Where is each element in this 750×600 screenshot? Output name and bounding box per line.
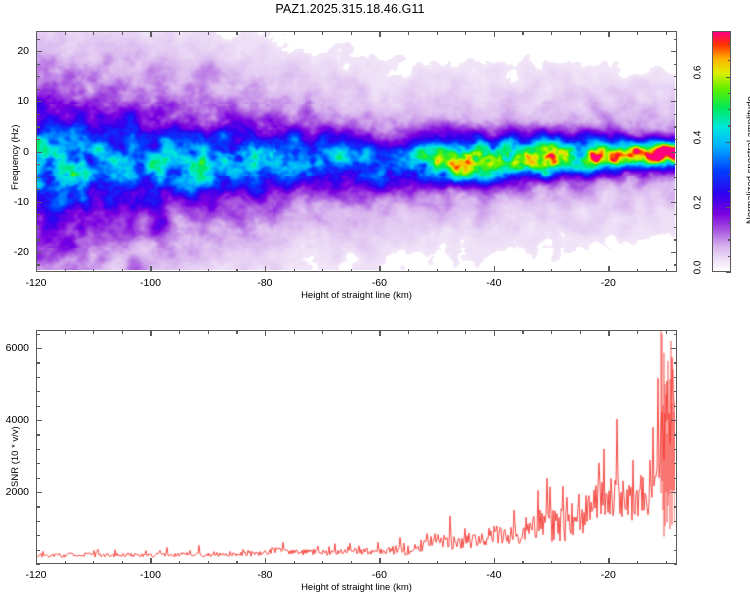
x-tick-bottom: [122, 561, 123, 565]
y-tick-right: [671, 348, 677, 349]
figure-root: PAZ1.2025.315.18.46.G11 -120-100-80-60-4…: [0, 0, 750, 600]
x-tick-label: -120: [25, 277, 46, 289]
x-tick-bottom: [551, 269, 552, 273]
x-tick-label: -100: [140, 277, 161, 289]
x-tick-bottom: [351, 561, 352, 565]
y-tick-label: 4000: [0, 414, 29, 426]
x-tick-top: [522, 31, 523, 35]
x-tick-bottom: [551, 561, 552, 565]
y-tick-left: [36, 463, 40, 464]
x-tick-bottom: [322, 269, 323, 273]
x-tick-bottom: [379, 558, 380, 564]
spectrogram-y-axis-title: Frequency (Hz): [10, 124, 21, 189]
y-tick-label: 6000: [0, 342, 29, 354]
y-tick-right: [674, 114, 678, 115]
x-tick-top: [465, 31, 466, 35]
x-tick-label: -100: [140, 569, 161, 581]
x-tick-top: [666, 330, 667, 334]
y-tick-right: [671, 420, 677, 421]
colorbar-tick: [728, 191, 731, 192]
y-tick-left: [36, 521, 40, 522]
colorbar: [712, 31, 731, 272]
y-tick-left: [36, 492, 42, 493]
colorbar-tick: [728, 60, 731, 61]
x-tick-bottom: [265, 558, 266, 564]
y-tick-right: [674, 177, 678, 178]
y-tick-left: [36, 420, 42, 421]
x-tick-bottom: [465, 269, 466, 273]
colorbar-tick-label: 0.4: [693, 130, 704, 150]
y-tick-right: [674, 64, 678, 65]
x-tick-top: [666, 31, 667, 35]
y-tick-right: [674, 506, 678, 507]
x-tick-top: [608, 330, 609, 336]
colorbar-axis-title: Normalized spectral amplitude: [745, 96, 750, 224]
x-tick-top: [551, 31, 552, 35]
x-tick-bottom: [437, 561, 438, 565]
y-tick-label: -10: [0, 196, 29, 208]
colorbar-tick: [728, 125, 731, 126]
y-tick-right: [674, 391, 678, 392]
colorbar-tick: [726, 142, 731, 143]
x-tick-top: [208, 330, 209, 334]
x-tick-bottom: [93, 269, 94, 273]
y-tick-right: [671, 51, 677, 52]
y-tick-right: [674, 564, 678, 565]
x-tick-label: -20: [601, 569, 616, 581]
y-tick-right: [674, 76, 678, 77]
x-tick-bottom: [322, 561, 323, 565]
y-tick-right: [674, 227, 678, 228]
y-tick-label: 10: [0, 95, 29, 107]
x-tick-bottom: [437, 269, 438, 273]
x-tick-bottom: [65, 561, 66, 565]
y-tick-right: [674, 126, 678, 127]
x-tick-top: [93, 330, 94, 334]
colorbar-tick-label: 0.2: [693, 195, 704, 215]
x-tick-top: [379, 330, 380, 336]
x-tick-bottom: [36, 266, 37, 272]
x-tick-bottom: [666, 561, 667, 565]
x-tick-bottom: [179, 561, 180, 565]
x-tick-bottom: [65, 269, 66, 273]
y-tick-right: [671, 252, 677, 253]
x-tick-top: [294, 31, 295, 35]
x-tick-bottom: [93, 561, 94, 565]
x-tick-bottom: [150, 558, 151, 564]
y-tick-left: [36, 227, 40, 228]
y-tick-right: [674, 362, 678, 363]
y-tick-left: [36, 449, 40, 450]
x-tick-top: [551, 330, 552, 334]
x-tick-top: [236, 31, 237, 35]
x-tick-bottom: [608, 558, 609, 564]
y-tick-left: [36, 377, 40, 378]
y-tick-left: [36, 478, 40, 479]
x-tick-bottom: [236, 269, 237, 273]
x-tick-label: -60: [372, 277, 387, 289]
x-tick-bottom: [637, 269, 638, 273]
x-tick-bottom: [265, 266, 266, 272]
y-tick-left: [36, 334, 40, 335]
x-tick-top: [322, 31, 323, 35]
x-tick-top: [322, 330, 323, 334]
y-tick-left: [36, 239, 40, 240]
snr-x-axis-title: Height of straight line (km): [301, 582, 412, 593]
x-tick-bottom: [208, 561, 209, 565]
y-tick-left: [36, 177, 40, 178]
y-tick-right: [671, 152, 677, 153]
x-tick-top: [437, 330, 438, 334]
x-tick-label: -40: [486, 569, 501, 581]
page-title: PAZ1.2025.315.18.46.G11: [0, 2, 700, 16]
x-tick-bottom: [522, 269, 523, 273]
colorbar-tick: [728, 44, 731, 45]
y-tick-right: [674, 449, 678, 450]
spectrogram-canvas: [37, 32, 675, 270]
x-tick-bottom: [608, 266, 609, 272]
x-tick-top: [637, 330, 638, 334]
spectrogram-x-axis-title: Height of straight line (km): [301, 290, 412, 301]
x-tick-bottom: [494, 266, 495, 272]
x-tick-top: [265, 330, 266, 336]
x-tick-bottom: [294, 269, 295, 273]
y-tick-left: [36, 64, 40, 65]
x-tick-top: [122, 330, 123, 334]
x-tick-top: [265, 31, 266, 37]
y-tick-left: [36, 189, 40, 190]
x-tick-label: -40: [486, 277, 501, 289]
y-tick-right: [671, 202, 677, 203]
x-tick-label: -80: [257, 277, 272, 289]
y-tick-label: 2000: [0, 486, 29, 498]
x-tick-bottom: [150, 266, 151, 272]
x-tick-top: [494, 330, 495, 336]
x-tick-bottom: [351, 269, 352, 273]
y-tick-left: [36, 39, 40, 40]
y-tick-label: 20: [0, 45, 29, 57]
colorbar-tick: [726, 77, 731, 78]
y-tick-right: [674, 164, 678, 165]
x-tick-top: [580, 330, 581, 334]
y-tick-right: [674, 39, 678, 40]
snr-y-axis-title: SNR (10 * v/v): [10, 426, 21, 487]
x-tick-top: [65, 330, 66, 334]
x-tick-top: [122, 31, 123, 35]
y-tick-right: [674, 334, 678, 335]
y-tick-label: -20: [0, 246, 29, 258]
x-tick-bottom: [294, 561, 295, 565]
colorbar-tick-label: 0.0: [693, 261, 704, 281]
x-tick-top: [179, 31, 180, 35]
y-tick-right: [674, 478, 678, 479]
x-tick-top: [408, 31, 409, 35]
y-tick-left: [36, 264, 40, 265]
colorbar-tick: [728, 256, 731, 257]
colorbar-tick: [728, 239, 731, 240]
x-tick-top: [179, 330, 180, 334]
colorbar-gradient: [713, 32, 730, 271]
y-tick-right: [674, 239, 678, 240]
y-tick-right: [674, 434, 678, 435]
y-tick-left: [36, 51, 42, 52]
y-tick-left: [36, 89, 40, 90]
x-tick-bottom: [580, 269, 581, 273]
x-tick-bottom: [179, 269, 180, 273]
y-tick-left: [36, 550, 40, 551]
x-tick-top: [379, 31, 380, 37]
x-tick-top: [351, 330, 352, 334]
y-tick-right: [674, 535, 678, 536]
x-tick-bottom: [522, 561, 523, 565]
y-tick-left: [36, 564, 40, 565]
x-tick-bottom: [236, 561, 237, 565]
y-tick-left: [36, 152, 42, 153]
y-tick-right: [671, 492, 677, 493]
x-tick-bottom: [580, 561, 581, 565]
colorbar-tick: [726, 207, 731, 208]
x-tick-top: [637, 31, 638, 35]
y-tick-left: [36, 362, 40, 363]
y-tick-left: [36, 252, 42, 253]
colorbar-tick-label: 0.6: [693, 65, 704, 85]
y-tick-right: [674, 189, 678, 190]
x-tick-top: [93, 31, 94, 35]
x-tick-bottom: [379, 266, 380, 272]
x-tick-bottom: [122, 269, 123, 273]
y-tick-left: [36, 101, 42, 102]
y-tick-left: [36, 214, 40, 215]
y-tick-left: [36, 164, 40, 165]
y-tick-left: [36, 139, 40, 140]
y-tick-left: [36, 114, 40, 115]
colorbar-tick: [728, 109, 731, 110]
x-tick-bottom: [494, 558, 495, 564]
y-tick-left: [36, 202, 42, 203]
colorbar-tick: [728, 223, 731, 224]
x-tick-top: [294, 330, 295, 334]
colorbar-tick: [728, 93, 731, 94]
x-tick-bottom: [408, 561, 409, 565]
x-tick-top: [150, 31, 151, 37]
x-tick-label: -60: [372, 569, 387, 581]
y-tick-right: [671, 101, 677, 102]
snr-panel: [36, 330, 677, 564]
y-tick-right: [674, 377, 678, 378]
y-tick-right: [674, 139, 678, 140]
y-tick-right: [674, 214, 678, 215]
colorbar-tick: [728, 158, 731, 159]
y-tick-right: [674, 406, 678, 407]
x-tick-bottom: [465, 561, 466, 565]
x-tick-top: [208, 31, 209, 35]
x-tick-top: [65, 31, 66, 35]
spectrogram-panel: [36, 31, 677, 272]
y-tick-right: [674, 89, 678, 90]
x-tick-top: [36, 31, 37, 37]
x-tick-label: -80: [257, 569, 272, 581]
x-tick-top: [236, 330, 237, 334]
y-tick-left: [36, 391, 40, 392]
y-tick-left: [36, 506, 40, 507]
y-tick-right: [674, 521, 678, 522]
y-tick-left: [36, 348, 42, 349]
y-tick-left: [36, 126, 40, 127]
x-tick-bottom: [208, 269, 209, 273]
colorbar-tick: [726, 272, 731, 273]
y-tick-left: [36, 76, 40, 77]
x-tick-bottom: [637, 561, 638, 565]
x-tick-top: [465, 330, 466, 334]
y-tick-left: [36, 406, 40, 407]
x-tick-top: [494, 31, 495, 37]
x-tick-top: [150, 330, 151, 336]
y-tick-right: [674, 550, 678, 551]
x-tick-top: [608, 31, 609, 37]
y-tick-left: [36, 535, 40, 536]
colorbar-tick: [728, 174, 731, 175]
x-tick-top: [580, 31, 581, 35]
y-tick-right: [674, 264, 678, 265]
y-tick-left: [36, 434, 40, 435]
x-tick-label: -120: [25, 569, 46, 581]
x-tick-top: [408, 330, 409, 334]
x-tick-top: [351, 31, 352, 35]
x-tick-top: [437, 31, 438, 35]
snr-canvas: [37, 331, 675, 562]
x-tick-label: -20: [601, 277, 616, 289]
x-tick-bottom: [408, 269, 409, 273]
x-tick-top: [522, 330, 523, 334]
y-tick-right: [674, 463, 678, 464]
x-tick-bottom: [666, 269, 667, 273]
